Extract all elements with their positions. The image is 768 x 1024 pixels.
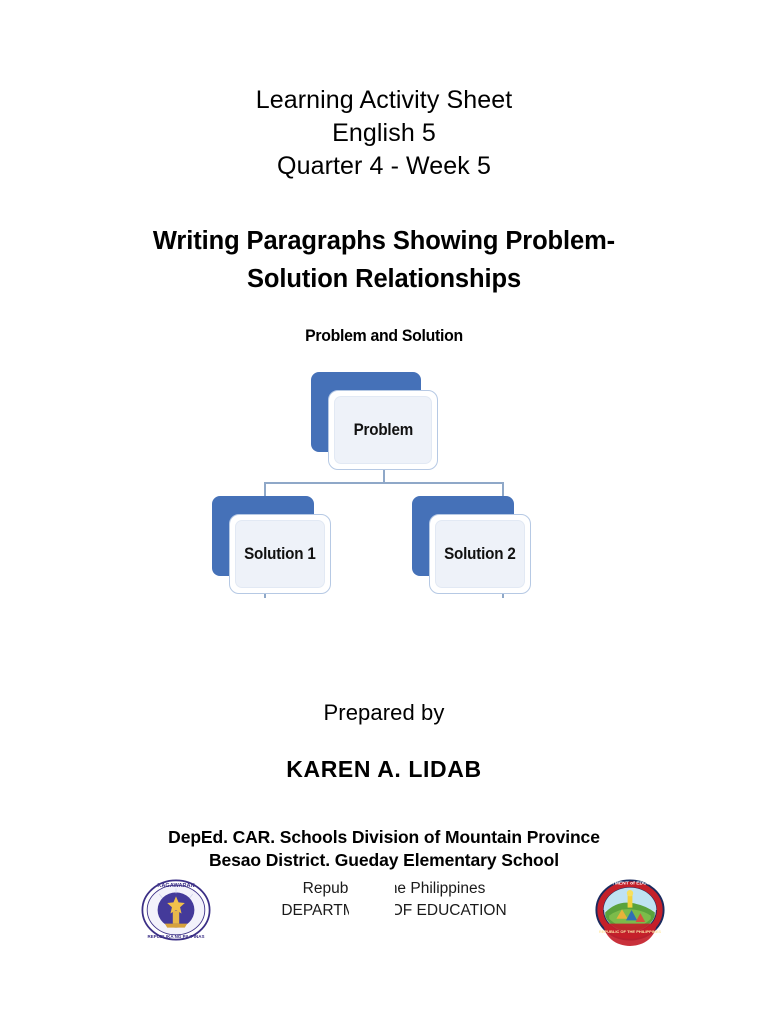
problem-solution-diagram: Problem and Solution Problem Solution 1 — [0, 326, 768, 616]
footer-division-line: DepEd. CAR. Schools Division of Mountain… — [0, 826, 768, 849]
footer-school-line: Besao District. Gueday Elementary School — [0, 849, 768, 872]
header-line-subject: English 5 — [0, 117, 768, 150]
department-of-education-seal-icon: DEPARTMENT of EDUCATION REPUBLIC OF THE … — [590, 874, 670, 946]
header-line-activity-sheet: Learning Activity Sheet — [0, 84, 768, 117]
node-label-solution-1: Solution 1 — [244, 545, 316, 564]
svg-text:DEPARTMENT of EDUCATION: DEPARTMENT of EDUCATION — [595, 880, 666, 886]
svg-text:REPUBLIKA NG PILIPINAS: REPUBLIKA NG PILIPINAS — [148, 934, 205, 939]
node-inner-panel: Solution 2 — [435, 520, 525, 588]
node-inner-panel: Solution 1 — [235, 520, 325, 588]
page-title: Writing Paragraphs Showing Problem-Solut… — [104, 222, 664, 298]
header-line-quarter-week: Quarter 4 - Week 5 — [0, 150, 768, 183]
text-occluder-block — [349, 874, 395, 922]
node-label-problem: Problem — [353, 421, 412, 440]
svg-text:REPUBLIC OF THE PHILIPPINES: REPUBLIC OF THE PHILIPPINES — [599, 929, 662, 934]
diagram-caption: Problem and Solution — [27, 326, 741, 346]
author-name: KAREN A. LIDAB — [0, 756, 768, 783]
deped-kagawaran-seal-icon: KAGAWARAN REPUBLIKA NG PILIPINAS — [136, 874, 216, 946]
prepared-by-label: Prepared by — [0, 700, 768, 726]
document-header: Learning Activity Sheet English 5 Quarte… — [0, 84, 768, 183]
svg-text:KAGAWARAN: KAGAWARAN — [157, 883, 194, 889]
connector-horizontal-bar — [264, 482, 504, 484]
diagram-node-solution-2: Solution 2 — [412, 496, 514, 576]
diagram-node-solution-1: Solution 1 — [212, 496, 314, 576]
footer-organization: DepEd. CAR. Schools Division of Mountain… — [0, 826, 768, 872]
diagram-node-problem: Problem — [311, 372, 421, 452]
node-label-solution-2: Solution 2 — [444, 545, 516, 564]
node-inner-panel: Problem — [334, 396, 432, 464]
document-page: Learning Activity Sheet English 5 Quarte… — [0, 0, 768, 1024]
